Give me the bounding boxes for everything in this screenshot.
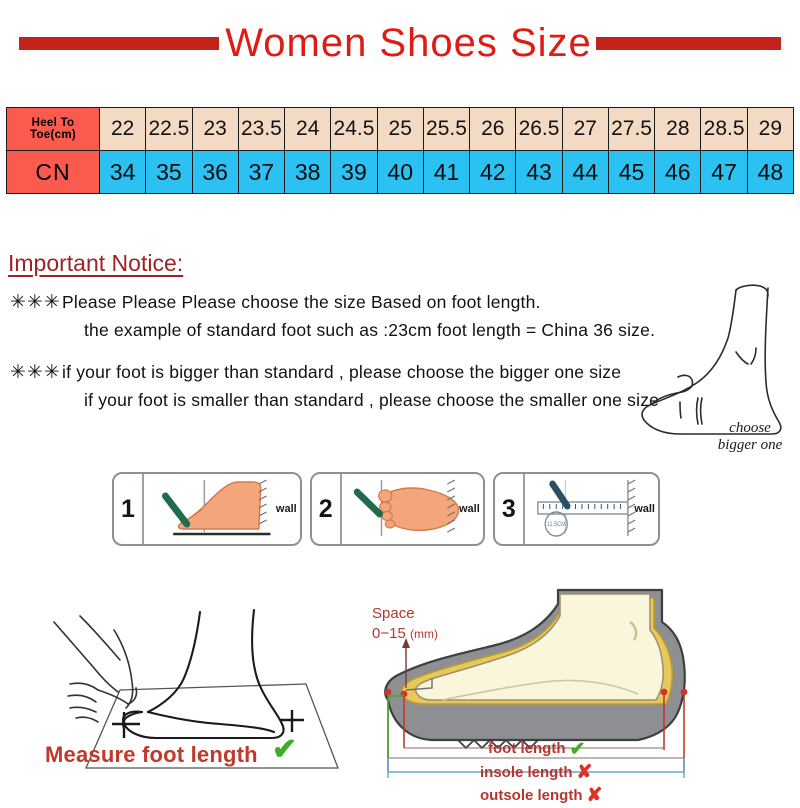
measurement-label: outsole length <box>480 787 583 805</box>
table-row-heel-to-toe: Heel To Toe(cm) 22 22.5 23 23.5 24 24.5 … <box>7 108 794 151</box>
measure-foot-caption: Measure foot length <box>45 742 258 768</box>
table-row-cn: CN 34 35 36 37 38 39 40 41 42 43 44 45 4… <box>7 151 794 194</box>
cell-cn: 39 <box>331 151 377 194</box>
important-notice-heading: Important Notice: <box>8 250 183 277</box>
check-icon: ✔ <box>272 735 297 765</box>
caption-line: bigger one <box>690 437 800 454</box>
step-number: 3 <box>495 474 525 544</box>
title-rule-right <box>596 37 781 50</box>
notice-bullet: ✳✳✳ Please Please Please choose the size… <box>10 288 690 344</box>
notice-bullet-text: if your foot is bigger than standard , p… <box>62 358 659 414</box>
size-chart-table: Heel To Toe(cm) 22 22.5 23 23.5 24 24.5 … <box>6 107 794 194</box>
cell-cm: 25.5 <box>423 108 469 151</box>
notice-line: the example of standard foot such as :23… <box>62 316 655 344</box>
measurement-row: outsole length ✘ <box>480 784 770 807</box>
cell-cm: 23 <box>192 108 238 151</box>
step-1-illustration: wall <box>144 474 300 544</box>
cell-cm: 27.5 <box>608 108 654 151</box>
step-2-illustration: wall <box>342 474 483 544</box>
page-title: Women Shoes Size <box>225 21 592 66</box>
cell-cn: 43 <box>516 151 562 194</box>
measurement-label: insole length <box>480 764 573 782</box>
wall-label: wall <box>459 503 480 515</box>
cell-cn: 40 <box>377 151 423 194</box>
space-label-line2: 0−15 (mm) <box>372 624 438 644</box>
page-title-band: Women Shoes Size <box>0 16 800 70</box>
step-panel-2: 2 wall <box>310 472 485 546</box>
caption-line: choose <box>690 420 800 437</box>
cell-cm: 25 <box>377 108 423 151</box>
cell-cm: 29 <box>747 108 793 151</box>
cell-cm: 26.5 <box>516 108 562 151</box>
notice-bullet: ✳✳✳ if your foot is bigger than standard… <box>10 358 690 414</box>
foot-illustration-caption: choose bigger one <box>690 420 800 455</box>
space-unit: (mm) <box>410 627 438 641</box>
wall-label: wall <box>634 503 655 515</box>
cell-cn: 36 <box>192 151 238 194</box>
step-panel-3: 3 11.5CM <box>493 472 660 546</box>
cross-icon: ✘ <box>577 761 593 784</box>
step-3-illustration: 11.5CM wall <box>525 474 658 544</box>
space-value: 0−15 <box>372 625 406 642</box>
notice-line: if your foot is bigger than standard , p… <box>62 362 621 382</box>
notice-bullet-text: Please Please Please choose the size Bas… <box>62 288 655 344</box>
cell-cn: 38 <box>285 151 331 194</box>
length-measurement-labels: foot length ✔ insole length ✘ outsole le… <box>480 738 770 808</box>
measurement-row: insole length ✘ <box>480 761 770 784</box>
measurement-label: foot length <box>488 740 565 758</box>
space-label-line1: Space <box>372 604 438 624</box>
step-number: 2 <box>312 474 342 544</box>
notice-block: ✳✳✳ Please Please Please choose the size… <box>10 288 690 428</box>
measure-steps: 1 wall 2 <box>112 472 660 546</box>
cell-cn: 35 <box>146 151 192 194</box>
cell-cm: 23.5 <box>238 108 284 151</box>
cell-cm: 24.5 <box>331 108 377 151</box>
cell-cm: 22.5 <box>146 108 192 151</box>
cell-cm: 27 <box>562 108 608 151</box>
cell-cn: 37 <box>238 151 284 194</box>
cross-icon: ✘ <box>587 784 603 807</box>
step-number: 1 <box>114 474 144 544</box>
title-rule-left <box>19 37 219 50</box>
cell-cn: 44 <box>562 151 608 194</box>
ruler-badge-text: 11.5CM <box>547 522 566 528</box>
cell-cn: 47 <box>701 151 747 194</box>
cell-cm: 22 <box>100 108 146 151</box>
check-icon: ✔ <box>569 738 585 761</box>
notice-line: Please Please Please choose the size Bas… <box>62 292 541 312</box>
cell-cn: 41 <box>423 151 469 194</box>
cell-cn: 34 <box>100 151 146 194</box>
wall-label: wall <box>276 503 297 515</box>
notice-line: if your foot is smaller than standard , … <box>62 386 659 414</box>
measurement-row: foot length ✔ <box>480 738 770 761</box>
row-header-cn: CN <box>7 151 100 194</box>
asterisk-icon: ✳✳✳ <box>10 288 62 344</box>
cell-cm: 28 <box>655 108 701 151</box>
cell-cn: 42 <box>470 151 516 194</box>
space-label: Space 0−15 (mm) <box>372 604 438 645</box>
cell-cn: 45 <box>608 151 654 194</box>
cell-cn: 46 <box>655 151 701 194</box>
cell-cn: 48 <box>747 151 793 194</box>
cell-cm: 26 <box>470 108 516 151</box>
asterisk-icon: ✳✳✳ <box>10 358 62 414</box>
step-panel-1: 1 wall <box>112 472 302 546</box>
cell-cm: 28.5 <box>701 108 747 151</box>
row-header-heel-to-toe: Heel To Toe(cm) <box>7 108 100 151</box>
cell-cm: 24 <box>285 108 331 151</box>
